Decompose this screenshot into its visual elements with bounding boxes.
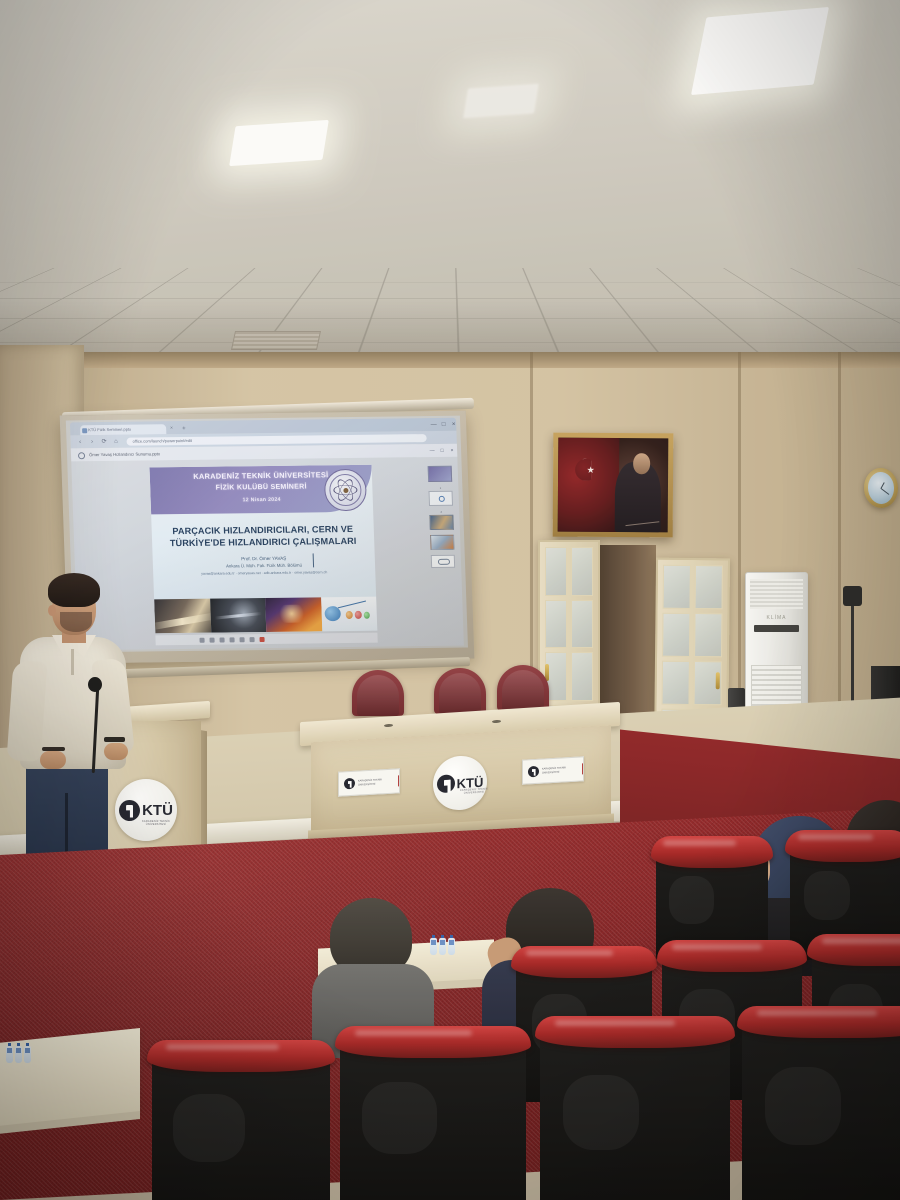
- play-icon[interactable]: [229, 637, 234, 642]
- slide-thumbnail-rail[interactable]: 1 2: [428, 466, 456, 573]
- star-icon: ★: [587, 466, 595, 475]
- ac-brand-label: KLİMA: [746, 615, 807, 621]
- clock-face: [867, 471, 895, 504]
- seat-row3-4[interactable]: [742, 1012, 900, 1200]
- door-pane: [571, 547, 593, 596]
- window-maximize-icon[interactable]: □: [440, 422, 447, 429]
- table-plaque-left: KARADENİZ TEKNİK ÜNİVERSİTESİ: [338, 768, 400, 796]
- slide-title: PARÇACIK HIZLANDIRICILARI, CERN VE TÜRKİ…: [160, 523, 367, 550]
- pa-speaker-on-stand: [843, 586, 862, 606]
- window-close-icon[interactable]: ×: [450, 422, 457, 429]
- plaque-accent-bar: [398, 775, 399, 786]
- collision-diagram: [321, 597, 378, 632]
- seat-red-rim: [335, 1026, 531, 1058]
- ac-top-grille: [750, 579, 803, 609]
- plaque-text: KARADENİZ TEKNİK ÜNİVERSİTESİ: [542, 766, 577, 774]
- seat-row3-2[interactable]: [340, 1032, 526, 1200]
- slide-affiliation: Ankara Ü. Müh. Fak. Fizik Müh. Bölümü: [161, 562, 367, 571]
- new-tab-icon[interactable]: +: [182, 426, 188, 432]
- presenter-arm-left: [7, 660, 48, 762]
- plaque-text: KARADENİZ TEKNİK ÜNİVERSİTESİ: [358, 778, 393, 786]
- ktu-mark-icon: [344, 778, 355, 790]
- tab-favicon-icon: [82, 428, 87, 433]
- comment-icon[interactable]: [219, 637, 224, 642]
- bottle-cap: [441, 935, 444, 938]
- seat-row3-1[interactable]: [152, 1046, 330, 1200]
- water-bottle: [6, 1046, 13, 1063]
- diagram-particle: [346, 611, 353, 619]
- water-bottle: [430, 938, 437, 955]
- door-pane: [694, 613, 722, 657]
- door-pane: [545, 600, 567, 649]
- turkish-flag: [558, 438, 619, 532]
- ktu-logo-subtitle: KARADENİZ TEKNİK ÜNİVERSİTESİ: [137, 820, 175, 826]
- diagram-particle: [354, 610, 362, 619]
- thumb-slide-3[interactable]: [429, 515, 454, 530]
- thumb-slide-2[interactable]: [428, 491, 453, 506]
- water-bottle: [439, 938, 446, 955]
- door-pane: [571, 600, 593, 649]
- detector-photo: [265, 597, 322, 632]
- water-bottle-cluster: [6, 1046, 31, 1063]
- seat-highlight: [362, 1082, 436, 1154]
- panel-chair-2[interactable]: [434, 668, 486, 714]
- water-bottle: [448, 938, 455, 955]
- ceiling-light-panel-2: [229, 120, 329, 166]
- ceiling-light-panel-1: [691, 7, 829, 95]
- bottle-cap: [432, 935, 435, 938]
- panel-chair-3[interactable]: [497, 665, 549, 711]
- reload-icon[interactable]: ⟳: [100, 439, 107, 445]
- presenter-hair: [48, 573, 100, 607]
- window-minimize-icon[interactable]: —: [430, 422, 437, 429]
- thumb-slide-4[interactable]: [430, 535, 455, 550]
- seat-highlight: [765, 1067, 841, 1145]
- door-pane: [545, 547, 567, 596]
- podium-microphone: [88, 677, 102, 692]
- grid-icon[interactable]: [199, 637, 204, 642]
- ktu-atom-seal-icon: [324, 469, 367, 511]
- home-icon[interactable]: ⌂: [112, 439, 119, 445]
- water-bottle: [24, 1046, 31, 1063]
- ktu-mark-icon: [528, 766, 539, 778]
- door-handle[interactable]: [716, 672, 720, 689]
- bottle-cap: [8, 1043, 11, 1046]
- bottle-cap: [17, 1043, 20, 1046]
- ppt-maximize-icon[interactable]: □: [439, 448, 445, 454]
- thumb-slide-1[interactable]: [428, 466, 453, 482]
- seat-row3-3[interactable]: [540, 1022, 730, 1200]
- ceiling-light-panel-3: [463, 84, 539, 119]
- panel-chair-1[interactable]: [352, 670, 404, 716]
- bottle-cap: [450, 935, 453, 938]
- portrait-canvas: ★: [558, 438, 669, 533]
- water-bottle: [15, 1046, 22, 1063]
- atom-icon: [333, 478, 358, 502]
- presenter-hand-left: [40, 751, 66, 769]
- presentation-slide: KARADENİZ TEKNİK ÜNİVERSİTESİ FİZİK KULÜ…: [150, 465, 378, 634]
- accelerator-beam-photo: [154, 599, 211, 634]
- seat-red-rim: [535, 1016, 735, 1048]
- ac-display-slot: [754, 625, 799, 632]
- door-pane: [571, 652, 593, 701]
- door-pane: [663, 565, 691, 609]
- seat-highlight: [804, 871, 850, 921]
- wrist-watch: [104, 737, 125, 742]
- thumb-slide-5[interactable]: [431, 555, 455, 568]
- seat-red-rim: [785, 830, 900, 862]
- note-icon[interactable]: [209, 637, 214, 642]
- forward-icon[interactable]: ›: [88, 439, 95, 445]
- bottle-cap: [26, 1043, 29, 1046]
- seat-red-rim: [147, 1040, 335, 1072]
- seat-red-rim: [807, 934, 900, 966]
- ppt-bottom-toolbar[interactable]: [155, 633, 377, 646]
- ppt-close-icon[interactable]: ×: [449, 448, 455, 454]
- seat-red-rim: [657, 940, 807, 972]
- door-pane: [695, 565, 723, 609]
- diagram-arrow: [338, 601, 366, 609]
- zoom-icon[interactable]: [249, 637, 254, 642]
- diagram-particle: [364, 612, 370, 620]
- particle-collision-photo: [210, 598, 267, 633]
- ataturk-portrait: ★: [553, 433, 674, 538]
- ppt-document-title: Ömer Yavaş Hızlandırıcı Sunumu.pptx: [89, 450, 160, 458]
- ktu-wordmark: KTÜ: [142, 803, 173, 818]
- wall-top-trim: [0, 352, 900, 368]
- fit-icon[interactable]: [239, 637, 244, 642]
- table-plaque-right: KARADENİZ TEKNİK ÜNİVERSİTESİ: [522, 756, 584, 784]
- ppt-app-icon: [78, 452, 85, 459]
- ppt-minimize-icon[interactable]: —: [429, 448, 435, 454]
- door-pane: [662, 613, 690, 657]
- seat-red-rim: [737, 1006, 900, 1038]
- clock-minute-hand: [881, 488, 890, 495]
- url-input[interactable]: office.com/launch/powerpoint/edit: [126, 434, 426, 446]
- seat-highlight: [563, 1075, 639, 1150]
- door-pane: [662, 661, 690, 705]
- seat-red-rim: [511, 946, 657, 978]
- diagram-nucleus: [324, 606, 341, 622]
- polo-placket: [71, 649, 74, 675]
- presenter-hand-right: [104, 743, 128, 760]
- slide-emails: yavas@ankara.edu.tr · omeryavas.net · ad…: [161, 570, 367, 578]
- present-icon[interactable]: [259, 637, 264, 642]
- atom-nucleus: [343, 488, 348, 493]
- water-bottle-cluster: [430, 938, 455, 955]
- seat-red-rim: [651, 836, 773, 868]
- seat-highlight: [669, 876, 714, 924]
- panel-table: KARADENİZ TEKNİK ÜNİVERSİTESİ KTÜ KARADE…: [300, 712, 620, 842]
- audience-table-left: [0, 1028, 140, 1128]
- wrist-band: [42, 747, 65, 751]
- seminar-hall-photo: ★: [0, 0, 900, 1200]
- presenter-ear: [48, 605, 56, 616]
- tab-close-icon[interactable]: ×: [170, 426, 175, 431]
- presenter-beard: [60, 612, 92, 632]
- seat-highlight: [173, 1094, 244, 1162]
- back-icon[interactable]: ‹: [76, 439, 83, 445]
- plaque-accent-bar: [582, 763, 583, 774]
- slide-image-strip: [154, 597, 377, 634]
- ktu-mark-icon: [437, 774, 455, 793]
